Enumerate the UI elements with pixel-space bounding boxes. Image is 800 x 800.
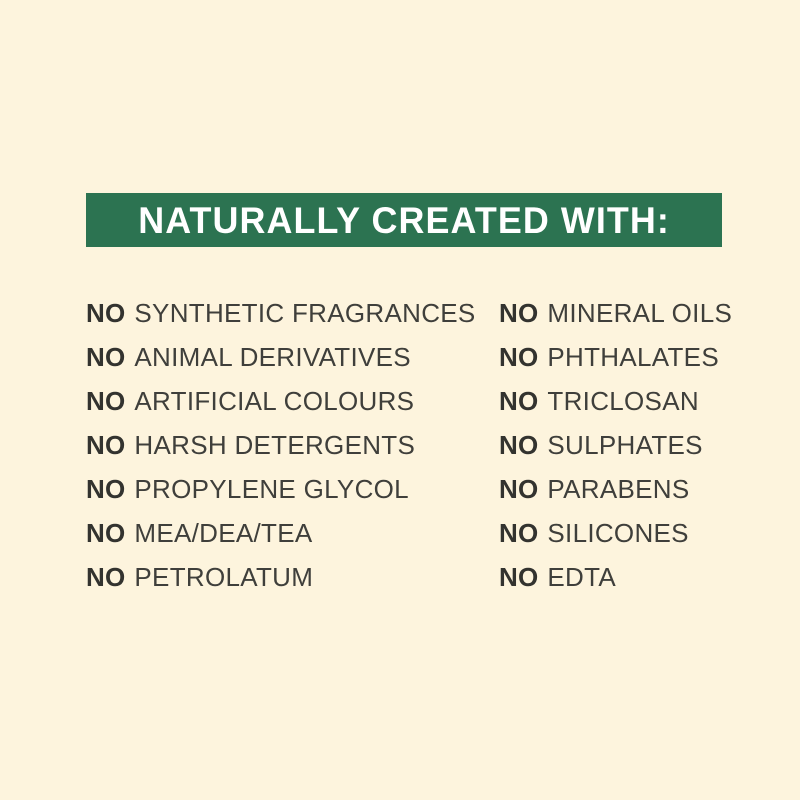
list-item: NO ARTIFICIAL COLOURS (86, 384, 486, 428)
item-prefix: NO (499, 560, 538, 594)
item-prefix: NO (86, 384, 125, 418)
item-prefix: NO (86, 560, 125, 594)
item-label: PROPYLENE GLYCOL (134, 472, 409, 506)
item-label: ANIMAL DERIVATIVES (134, 340, 411, 374)
item-prefix: NO (86, 472, 125, 506)
list-item: NO TRICLOSAN (499, 384, 789, 428)
claims-list: NO SYNTHETIC FRAGRANCES NO ANIMAL DERIVA… (0, 296, 800, 616)
banner-heading: NATURALLY CREATED WITH: (86, 193, 722, 247)
claims-column-left: NO SYNTHETIC FRAGRANCES NO ANIMAL DERIVA… (86, 296, 486, 604)
list-item: NO SULPHATES (499, 428, 789, 472)
list-item: NO MEA/DEA/TEA (86, 516, 486, 560)
item-prefix: NO (499, 428, 538, 462)
item-prefix: NO (499, 516, 538, 550)
item-label: MINERAL OILS (547, 296, 732, 330)
item-label: HARSH DETERGENTS (134, 428, 415, 462)
item-prefix: NO (499, 340, 538, 374)
ingredient-claims-poster: NATURALLY CREATED WITH: NO SYNTHETIC FRA… (0, 0, 800, 800)
list-item: NO MINERAL OILS (499, 296, 789, 340)
item-label: SULPHATES (547, 428, 702, 462)
item-prefix: NO (499, 384, 538, 418)
item-label: PHTHALATES (547, 340, 719, 374)
item-prefix: NO (499, 472, 538, 506)
item-label: MEA/DEA/TEA (134, 516, 312, 550)
item-label: PARABENS (547, 472, 689, 506)
list-item: NO SILICONES (499, 516, 789, 560)
list-item: NO EDTA (499, 560, 789, 604)
item-prefix: NO (499, 296, 538, 330)
list-item: NO ANIMAL DERIVATIVES (86, 340, 486, 384)
list-item: NO SYNTHETIC FRAGRANCES (86, 296, 486, 340)
item-prefix: NO (86, 296, 125, 330)
list-item: NO PETROLATUM (86, 560, 486, 604)
item-label: PETROLATUM (134, 560, 313, 594)
item-prefix: NO (86, 516, 125, 550)
list-item: NO PROPYLENE GLYCOL (86, 472, 486, 516)
claims-column-right: NO MINERAL OILS NO PHTHALATES NO TRICLOS… (499, 296, 789, 604)
page-title: NATURALLY CREATED WITH: (138, 202, 670, 239)
item-label: ARTIFICIAL COLOURS (134, 384, 414, 418)
list-item: NO PHTHALATES (499, 340, 789, 384)
list-item: NO PARABENS (499, 472, 789, 516)
item-prefix: NO (86, 428, 125, 462)
item-label: EDTA (547, 560, 616, 594)
list-item: NO HARSH DETERGENTS (86, 428, 486, 472)
item-label: SILICONES (547, 516, 688, 550)
item-label: SYNTHETIC FRAGRANCES (134, 296, 475, 330)
item-label: TRICLOSAN (547, 384, 699, 418)
item-prefix: NO (86, 340, 125, 374)
